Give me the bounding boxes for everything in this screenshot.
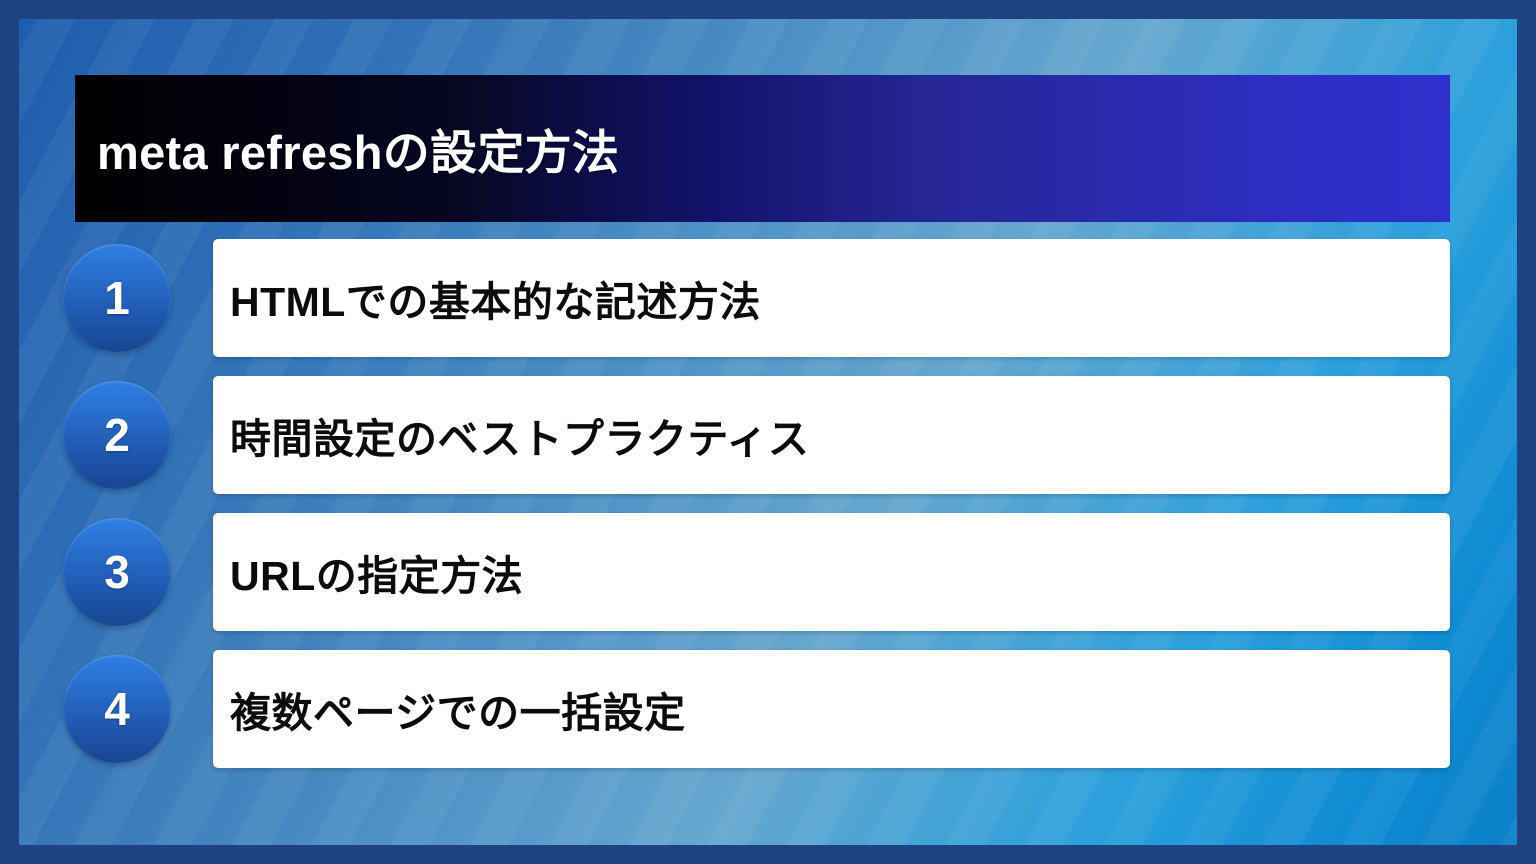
slide-root: meta refreshの設定方法 1 HTMLでの基本的な記述方法 2 時間設… (0, 0, 1536, 864)
item-number-badge: 4 (63, 655, 171, 763)
list-item[interactable]: 4 複数ページでの一括設定 (19, 650, 1517, 768)
list-item[interactable]: 3 URLの指定方法 (19, 513, 1517, 631)
item-card-label: URLの指定方法 (213, 542, 523, 602)
item-number-badge: 3 (63, 518, 171, 626)
item-number-label: 2 (104, 412, 130, 458)
item-card[interactable]: 時間設定のベストプラクティス (213, 376, 1450, 494)
list-item[interactable]: 2 時間設定のベストプラクティス (19, 376, 1517, 494)
numbered-list: 1 HTMLでの基本的な記述方法 2 時間設定のベストプラクティス 3 (19, 239, 1517, 768)
item-card-label: 時間設定のベストプラクティス (213, 405, 809, 465)
item-card[interactable]: 複数ページでの一括設定 (213, 650, 1450, 768)
item-number-badge: 2 (63, 381, 171, 489)
item-number-badge: 1 (63, 244, 171, 352)
slide-panel: meta refreshの設定方法 1 HTMLでの基本的な記述方法 2 時間設… (19, 19, 1517, 845)
list-item[interactable]: 1 HTMLでの基本的な記述方法 (19, 239, 1517, 357)
item-number-label: 1 (104, 275, 130, 321)
item-number-label: 4 (104, 686, 130, 732)
item-card-label: 複数ページでの一括設定 (213, 679, 686, 739)
item-card-label: HTMLでの基本的な記述方法 (213, 268, 761, 328)
item-card[interactable]: URLの指定方法 (213, 513, 1450, 631)
item-card[interactable]: HTMLでの基本的な記述方法 (213, 239, 1450, 357)
item-number-label: 3 (104, 549, 130, 595)
title-banner: meta refreshの設定方法 (75, 75, 1450, 222)
page-title: meta refreshの設定方法 (75, 114, 619, 183)
